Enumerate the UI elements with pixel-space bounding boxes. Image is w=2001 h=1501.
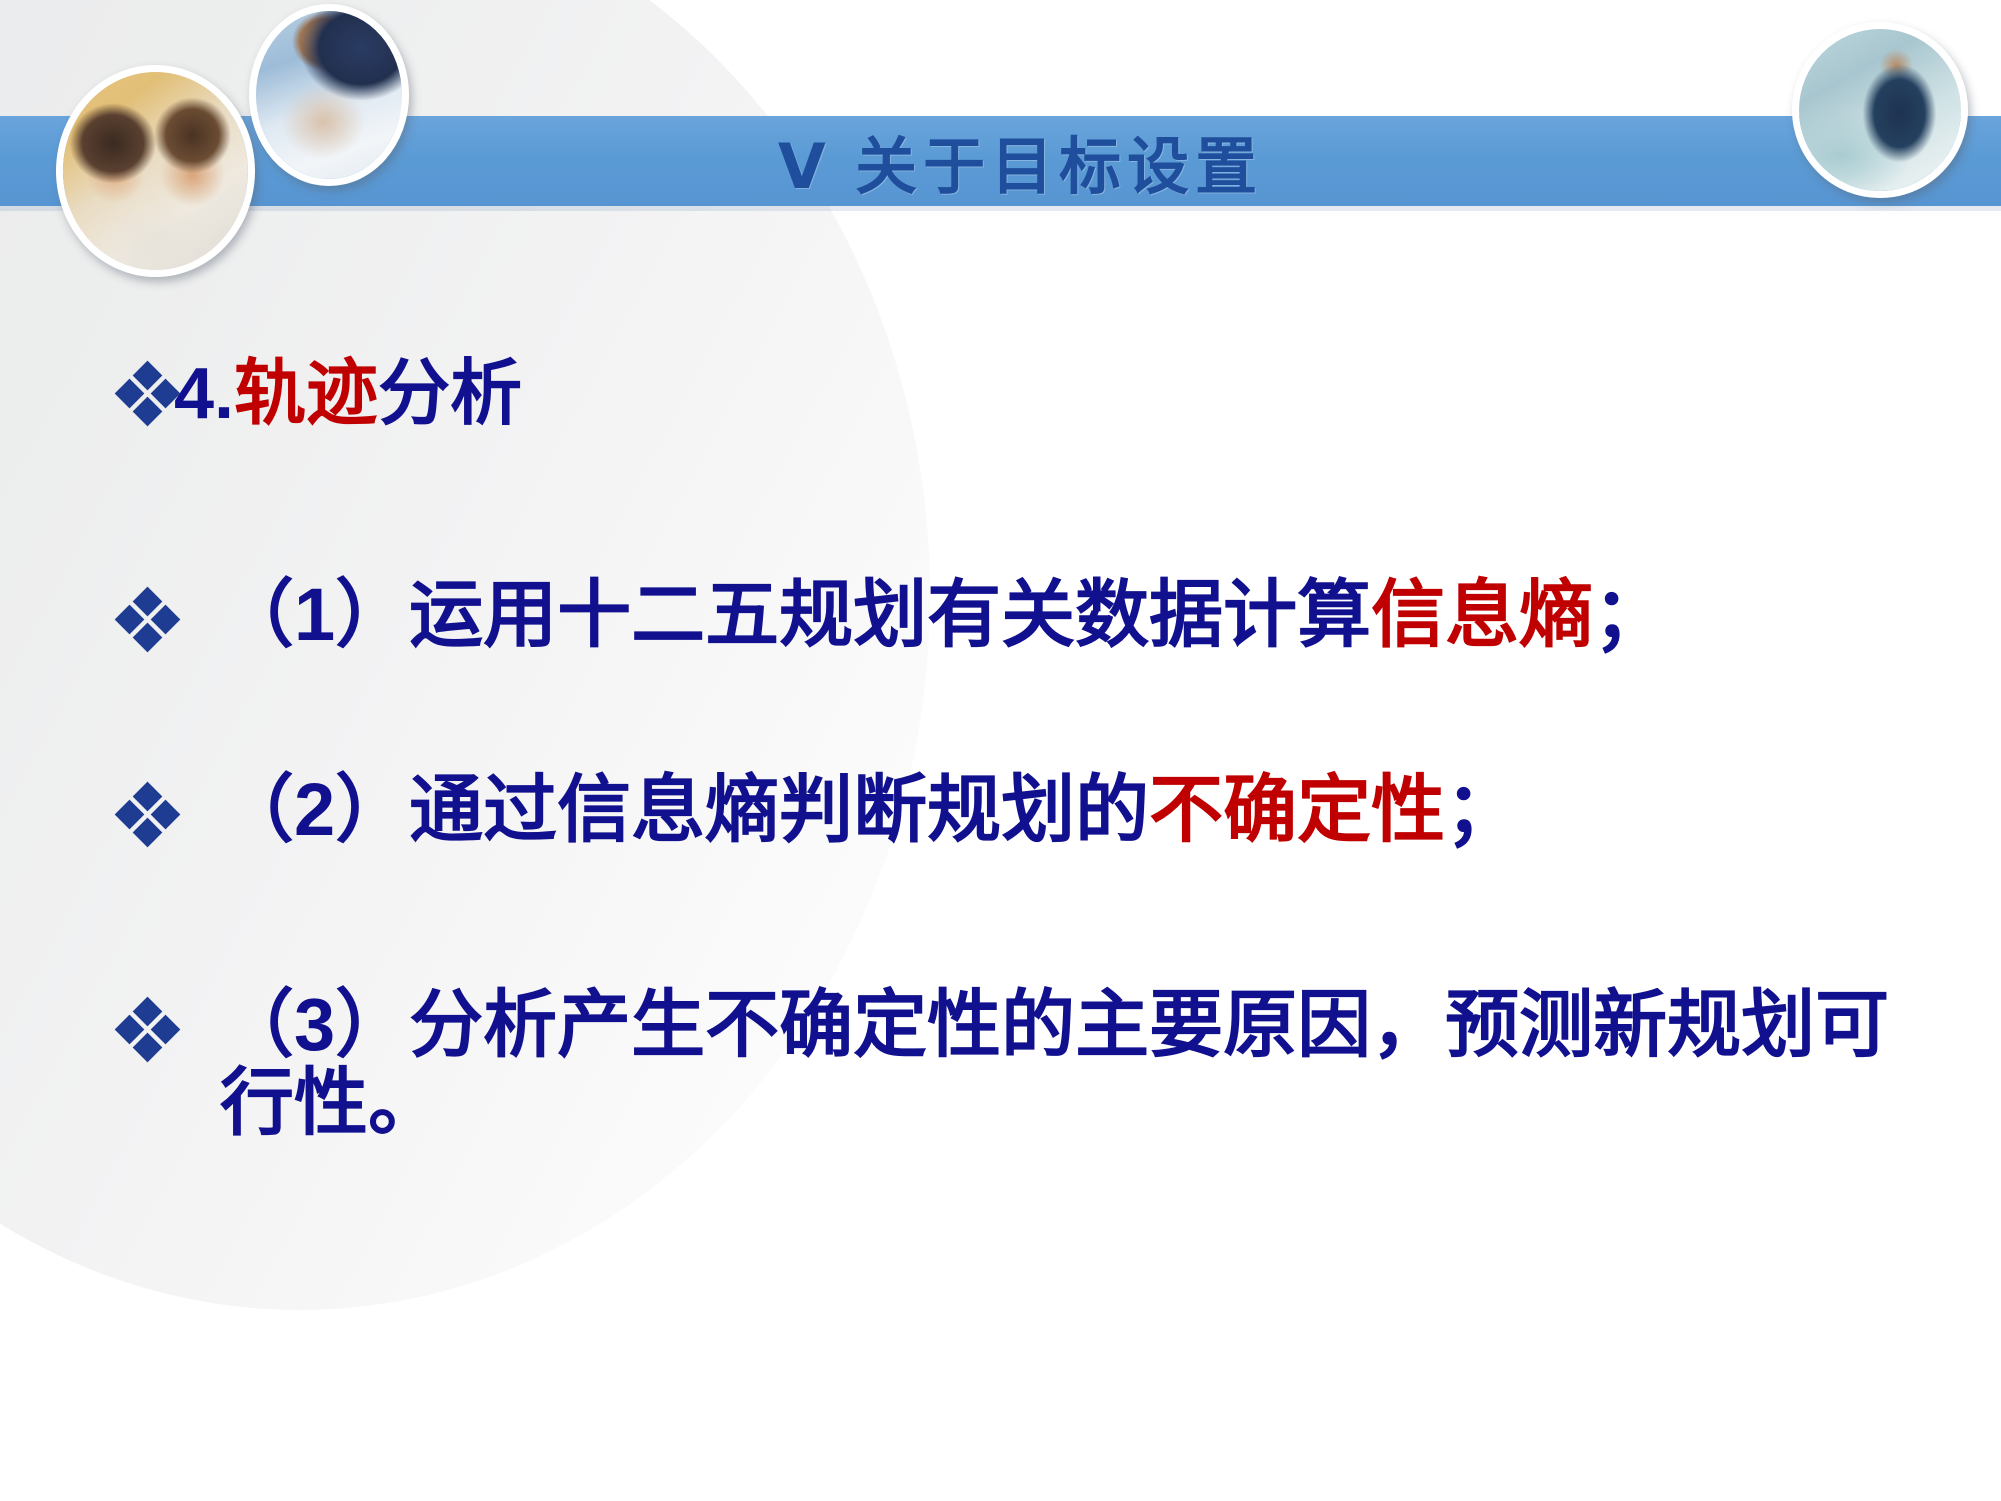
list-item-3: （3）分析产生不确定性的主要原因，预测新规划可行性。: [118, 986, 1948, 1143]
photo-presenter-image: [1799, 29, 1961, 191]
list-item-3-text: （3）分析产生不确定性的主要原因，预测新规划可行性。: [220, 986, 1940, 1143]
photo-presenter: [1792, 22, 1968, 198]
list-item-1-highlight: 信息熵: [1371, 573, 1593, 656]
list-item-1: （1）运用十二五规划有关数据计算信息熵；: [118, 576, 1667, 654]
diamond-cluster-icon: [118, 1000, 176, 1058]
list-item-2-tail: ；: [1445, 768, 1519, 851]
heading-tail: 分析: [378, 354, 522, 434]
list-item-2-highlight: 不确定性: [1149, 768, 1445, 851]
heading-number: 4.: [174, 354, 234, 434]
slide-body: 4.轨迹分析 （1）运用十二五规划有关数据计算信息熵； （2）通过信息熵判断规划…: [0, 206, 2001, 1501]
diamond-cluster-icon: [118, 364, 174, 422]
list-item-heading: 4.轨迹分析: [118, 356, 522, 432]
list-item-1-label: （1）运用十二五规划有关数据计算: [220, 573, 1371, 656]
diamond-cluster-icon: [118, 590, 176, 648]
list-item-1-text: （1）运用十二五规划有关数据计算信息熵；: [220, 576, 1667, 654]
heading-text: 4.轨迹分析: [174, 356, 522, 432]
list-item-1-tail: ；: [1593, 573, 1667, 656]
diamond-cluster-icon: [118, 785, 176, 843]
list-item-2-label: （2）通过信息熵判断规划的: [220, 768, 1149, 851]
photo-handshake: [249, 4, 409, 186]
list-item-2-text: （2）通过信息熵判断规划的不确定性；: [220, 771, 1519, 849]
heading-highlight: 轨迹: [234, 354, 378, 434]
list-item-2: （2）通过信息熵判断规划的不确定性；: [118, 771, 1519, 849]
photo-handshake-image: [256, 11, 402, 179]
list-item-3-label: （3）分析产生不确定性的主要原因，预测新规划可行性。: [220, 983, 1889, 1144]
